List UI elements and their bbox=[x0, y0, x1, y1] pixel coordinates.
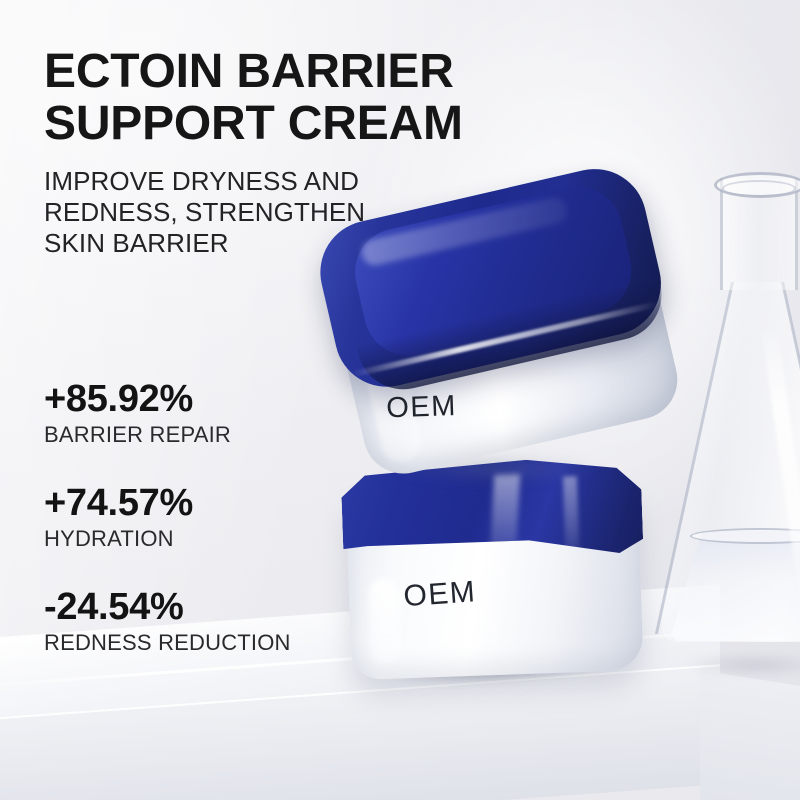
bottom-jar-brand-text: OEM bbox=[402, 575, 477, 614]
podium-right-face bbox=[700, 670, 800, 800]
page-subtitle: IMPROVE DRYNESS AND REDNESS, STRENGTHEN … bbox=[44, 166, 514, 259]
stats-list: +85.92% BARRIER REPAIR +74.57% HYDRATION… bbox=[44, 378, 344, 656]
stat-item-redness-reduction: -24.54% REDNESS REDUCTION bbox=[44, 586, 344, 656]
stat-value: +85.92% bbox=[44, 378, 344, 420]
top-jar-brand-text: OEM bbox=[386, 390, 458, 425]
stat-label: REDNESS REDUCTION bbox=[44, 630, 344, 656]
stat-item-hydration: +74.57% HYDRATION bbox=[44, 482, 344, 552]
stat-label: BARRIER REPAIR bbox=[44, 422, 344, 448]
bottom-jar-lid-highlight-secondary bbox=[563, 476, 580, 556]
product-poster: OEM OEM ECTOIN BARRIER SUPPORT CREAM IMP… bbox=[0, 0, 800, 800]
copy-block: ECTOIN BARRIER SUPPORT CREAM IMPROVE DRY… bbox=[44, 46, 514, 259]
page-title: ECTOIN BARRIER SUPPORT CREAM bbox=[44, 46, 514, 150]
bottom-jar-highlight bbox=[368, 578, 401, 665]
stat-item-barrier-repair: +85.92% BARRIER REPAIR bbox=[44, 378, 344, 448]
stat-value: +74.57% bbox=[44, 482, 344, 524]
flask-rim-inner bbox=[722, 180, 796, 197]
stat-value: -24.54% bbox=[44, 586, 344, 628]
stat-label: HYDRATION bbox=[44, 526, 344, 552]
